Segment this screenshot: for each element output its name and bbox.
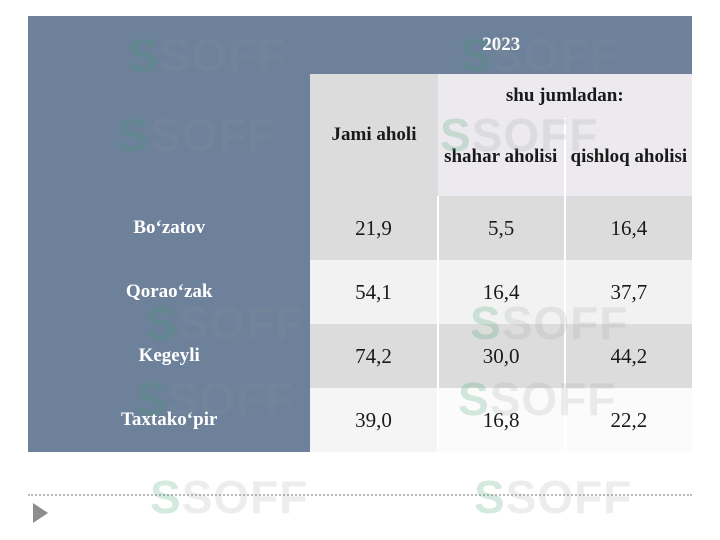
table-header-year-row: 2023 — [28, 16, 692, 74]
row-region-label: Bo‘zatov — [28, 196, 310, 260]
table-row: Taxtako‘pir 39,0 16,8 22,2 — [28, 388, 692, 452]
cell-total: 54,1 — [310, 260, 437, 324]
row-region-label: Taxtako‘pir — [28, 388, 310, 452]
header-total-population: Jami aholi — [310, 74, 437, 196]
population-table: 2023 Jami aholi shu jumladan: shahar aho… — [28, 16, 692, 452]
cell-rural: 16,4 — [565, 196, 692, 260]
row-region-label: Qorao‘zak — [28, 260, 310, 324]
cell-urban: 16,8 — [438, 388, 565, 452]
footer-divider — [28, 494, 692, 496]
watermark-text: SSOFF — [474, 470, 632, 524]
row-region-label: Kegeyli — [28, 324, 310, 388]
table-row: Qorao‘zak 54,1 16,4 37,7 — [28, 260, 692, 324]
cell-urban: 5,5 — [438, 196, 565, 260]
population-table-container: 2023 Jami aholi shu jumladan: shahar aho… — [28, 16, 692, 452]
header-rural-population: qishloq aholisi — [565, 118, 692, 196]
cell-total: 39,0 — [310, 388, 437, 452]
header-corner-blank — [28, 16, 310, 196]
cell-urban: 30,0 — [438, 324, 565, 388]
cell-rural: 22,2 — [565, 388, 692, 452]
table-row: Kegeyli 74,2 30,0 44,2 — [28, 324, 692, 388]
play-triangle-icon[interactable] — [33, 503, 48, 523]
watermark-text: SSOFF — [150, 470, 308, 524]
header-group-label: shu jumladan: — [438, 74, 692, 118]
cell-urban: 16,4 — [438, 260, 565, 324]
cell-rural: 44,2 — [565, 324, 692, 388]
cell-rural: 37,7 — [565, 260, 692, 324]
table-row: Bo‘zatov 21,9 5,5 16,4 — [28, 196, 692, 260]
header-urban-population: shahar aholisi — [438, 118, 565, 196]
cell-total: 74,2 — [310, 324, 437, 388]
cell-total: 21,9 — [310, 196, 437, 260]
header-year: 2023 — [310, 16, 692, 74]
